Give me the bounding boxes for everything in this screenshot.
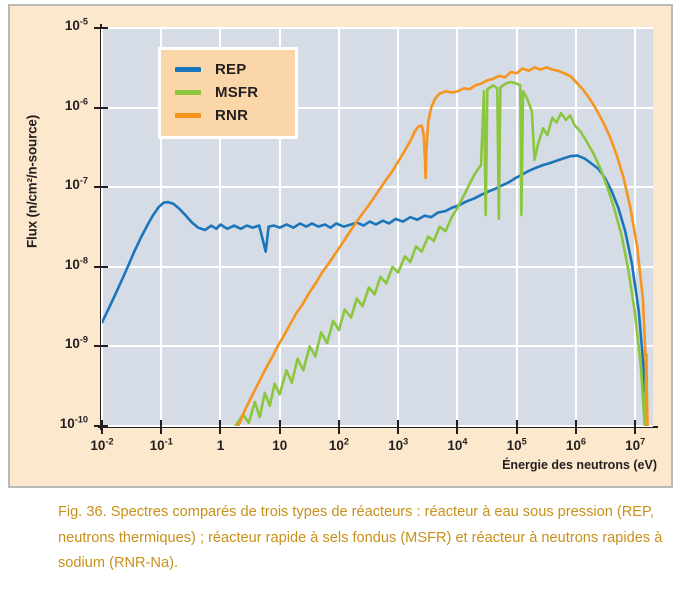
legend-swatch-msfr	[175, 90, 201, 95]
x-tick-mark	[219, 420, 221, 434]
x-tick-label: 105	[487, 438, 547, 453]
legend-item-rnr[interactable]: RNR	[161, 104, 295, 127]
y-tick-label: 10‑10	[18, 416, 88, 431]
legend-swatch-rep	[175, 67, 201, 72]
x-tick-label: 107	[605, 438, 665, 453]
x-tick-mark	[338, 420, 340, 434]
figure-frame: Flux (n/cm²/n-source) 10‑510‑610‑710‑810…	[8, 4, 673, 488]
x-tick-label: 106	[546, 438, 606, 453]
x-tick-mark	[456, 420, 458, 434]
y-tick-mark	[94, 186, 108, 188]
y-tick-label: 10‑5	[18, 18, 88, 33]
legend-item-rep[interactable]: REP	[161, 58, 295, 81]
y-tick-mark	[94, 266, 108, 268]
x-tick-mark	[160, 420, 162, 434]
chart-legend: REPMSFRRNR	[158, 47, 298, 139]
x-tick-label: 102	[309, 438, 369, 453]
y-tick-label: 10‑7	[18, 177, 88, 192]
x-tick-mark	[397, 420, 399, 434]
x-tick-label: 10‑1	[131, 438, 191, 453]
x-tick-mark	[101, 420, 103, 434]
legend-label: REP	[215, 61, 246, 78]
x-tick-label: 104	[427, 438, 487, 453]
y-tick-mark	[94, 107, 108, 109]
x-axis-title: Énergie des neutrons (eV)	[502, 458, 657, 472]
x-tick-label: 1	[190, 438, 250, 453]
legend-label: RNR	[215, 107, 248, 124]
x-tick-label: 103	[368, 438, 428, 453]
legend-item-msfr[interactable]: MSFR	[161, 81, 295, 104]
x-tick-mark	[279, 420, 281, 434]
series-line-rnr	[238, 67, 647, 426]
x-tick-label: 10	[250, 438, 310, 453]
x-tick-label: 10‑2	[72, 438, 132, 453]
y-tick-mark	[94, 27, 108, 29]
y-tick-label: 10‑8	[18, 257, 88, 272]
x-tick-mark	[634, 420, 636, 434]
legend-label: MSFR	[215, 84, 258, 101]
figure-caption: Fig. 36. Spectres comparés de trois type…	[58, 500, 664, 577]
legend-swatch-rnr	[175, 113, 201, 118]
y-tick-label: 10‑6	[18, 98, 88, 113]
y-tick-label: 10‑9	[18, 336, 88, 351]
y-tick-mark	[94, 345, 108, 347]
x-tick-mark	[575, 420, 577, 434]
x-tick-mark	[516, 420, 518, 434]
